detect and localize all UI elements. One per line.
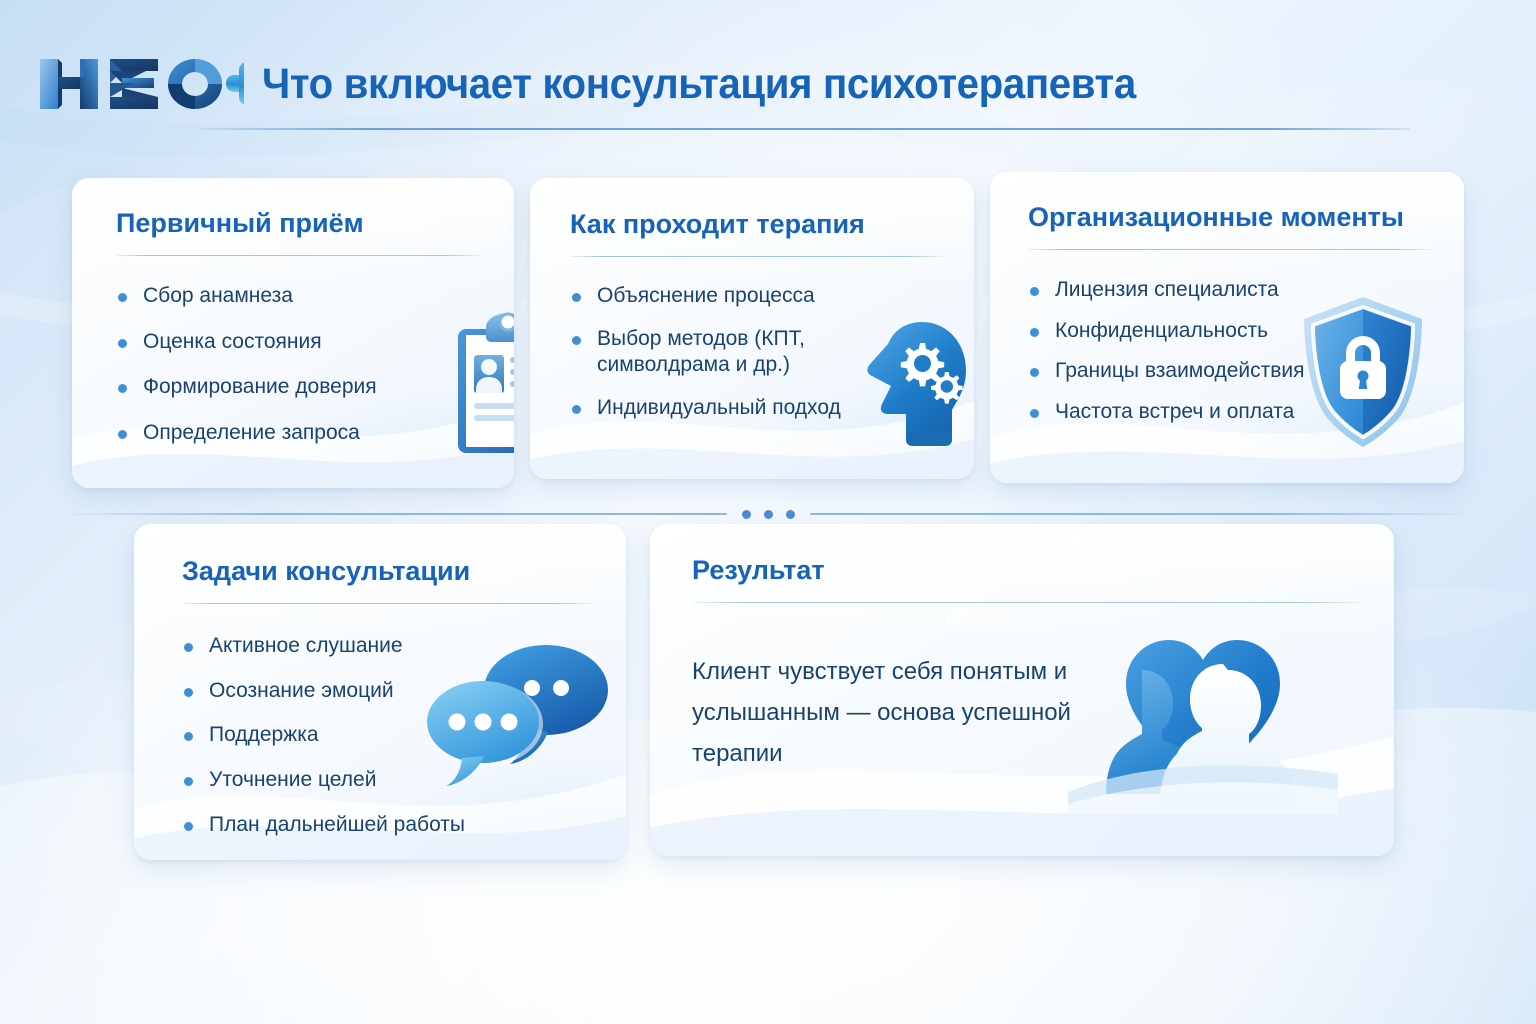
card-title: Задачи консультации (182, 557, 596, 587)
list-item: Границы взаимодействия (1028, 358, 1434, 385)
card-title: Как проходит терапия (570, 210, 944, 240)
section-divider (72, 508, 1464, 520)
bullet-list: Объяснение процесса Выбор методов (КПТ, … (570, 283, 870, 423)
card-title-divider (182, 603, 596, 604)
list-item: Осознание эмоций (182, 678, 596, 705)
divider-dot (786, 510, 795, 519)
list-item: Объяснение процесса (570, 283, 870, 310)
list-item: Сбор анамнеза (116, 283, 482, 310)
neo-plus-logo-icon (36, 53, 244, 115)
list-item: Индивидуальный подход (570, 395, 870, 422)
list-item: Уточнение целей (182, 767, 596, 794)
divider-dots (727, 510, 810, 519)
list-item: Частота встреч и оплата (1028, 399, 1434, 426)
page-title: Что включает консультация психотерапевта (262, 63, 1136, 106)
card-title: Организационные моменты (1028, 203, 1434, 233)
bullet-list: Сбор анамнеза Оценка состояния Формирова… (116, 283, 482, 448)
card-result: Результат Клиент чувствует себя понятым … (650, 524, 1394, 856)
card-title-divider (116, 255, 482, 256)
card-consultation-tasks: Задачи консультации Активное слушание Ос… (134, 524, 626, 860)
card-title: Результат (692, 556, 1364, 586)
list-item: Выбор методов (КПТ, символдрама и др.) (570, 326, 870, 380)
card-primary-appointment: Первичный приём Сбор анамнеза Оценка сос… (72, 178, 514, 488)
divider-dot (764, 510, 773, 519)
card-title: Первичный приём (116, 209, 482, 239)
card-organizational-details: Организационные моменты Лицензия специал… (990, 172, 1464, 483)
header-divider (200, 128, 1410, 130)
list-item: Оценка состояния (116, 329, 482, 356)
list-item: Активное слушание (182, 633, 596, 660)
card-therapy-process: Как проходит терапия Объяснение процесса… (530, 178, 974, 479)
list-item: План дальнейшей работы (182, 812, 596, 839)
card-title-divider (1028, 249, 1434, 250)
list-item: Конфиденциальность (1028, 318, 1434, 345)
list-item: Поддержка (182, 722, 596, 749)
result-body-text: Клиент чувствует себя понятым и услышанн… (692, 651, 1122, 775)
page-header: Что включает консультация психотерапевта (0, 34, 1536, 134)
bullet-list: Лицензия специалиста Конфиденциальность … (1028, 277, 1434, 427)
divider-dot (742, 510, 751, 519)
list-item: Формирование доверия (116, 374, 482, 401)
list-item: Определение запроса (116, 420, 482, 447)
list-item: Лицензия специалиста (1028, 277, 1434, 304)
bullet-list: Активное слушание Осознание эмоций Подде… (182, 633, 596, 839)
card-title-divider (570, 256, 944, 257)
card-title-divider (692, 602, 1364, 603)
divider-line-left (72, 513, 727, 515)
divider-line-right (810, 513, 1465, 515)
